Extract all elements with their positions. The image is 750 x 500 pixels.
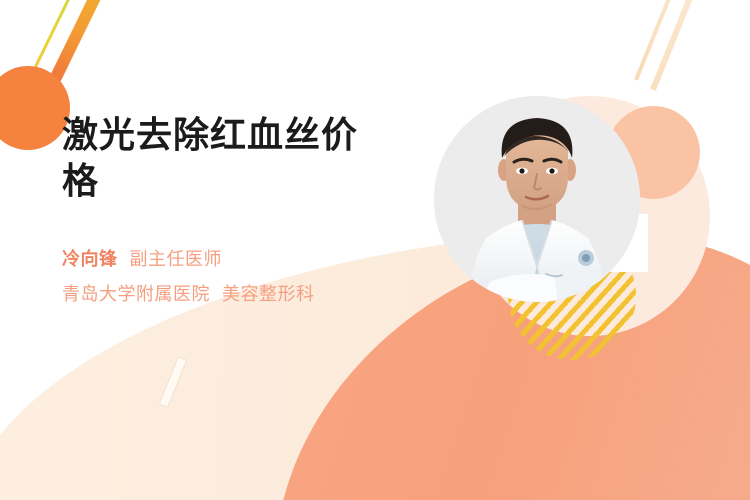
peach-circle-decoration bbox=[607, 106, 700, 199]
diagonal-stripe-pale-b-icon bbox=[650, 0, 700, 91]
poster-text-block: 激光去除红血丝价格 冷向锋副主任医师 青岛大学附属医院美容整形科 bbox=[62, 112, 412, 308]
diagonal-stripe-outline-icon bbox=[159, 356, 188, 408]
doctor-credential-line: 冷向锋副主任医师 bbox=[62, 246, 412, 273]
yellow-striped-circle-decoration bbox=[508, 232, 636, 360]
doctor-portrait-illustration bbox=[434, 96, 640, 302]
diagonal-stripe-pale-a-icon bbox=[634, 0, 680, 81]
doctor-title: 副主任医师 bbox=[130, 249, 223, 269]
doctor-name: 冷向锋 bbox=[62, 249, 118, 269]
pale-peach-circle-decoration bbox=[470, 96, 710, 336]
poster-canvas: 激光去除红血丝价格 冷向锋副主任医师 青岛大学附属医院美容整形科 bbox=[0, 0, 750, 500]
doctor-affiliation-line: 青岛大学附属医院美容整形科 bbox=[62, 281, 412, 308]
department-name: 美容整形科 bbox=[222, 284, 315, 304]
wave-bottom-right-soft-decoration bbox=[319, 324, 750, 500]
diagonal-stripe-green-icon bbox=[28, 0, 80, 81]
page-title: 激光去除红血丝价格 bbox=[62, 112, 392, 204]
doctor-photo-circle bbox=[434, 96, 640, 302]
orange-circle-decoration bbox=[0, 66, 70, 150]
diagonal-stripe-orange-icon bbox=[47, 0, 112, 86]
hospital-name: 青岛大学附属医院 bbox=[62, 284, 210, 304]
stripe-mask bbox=[496, 214, 648, 272]
